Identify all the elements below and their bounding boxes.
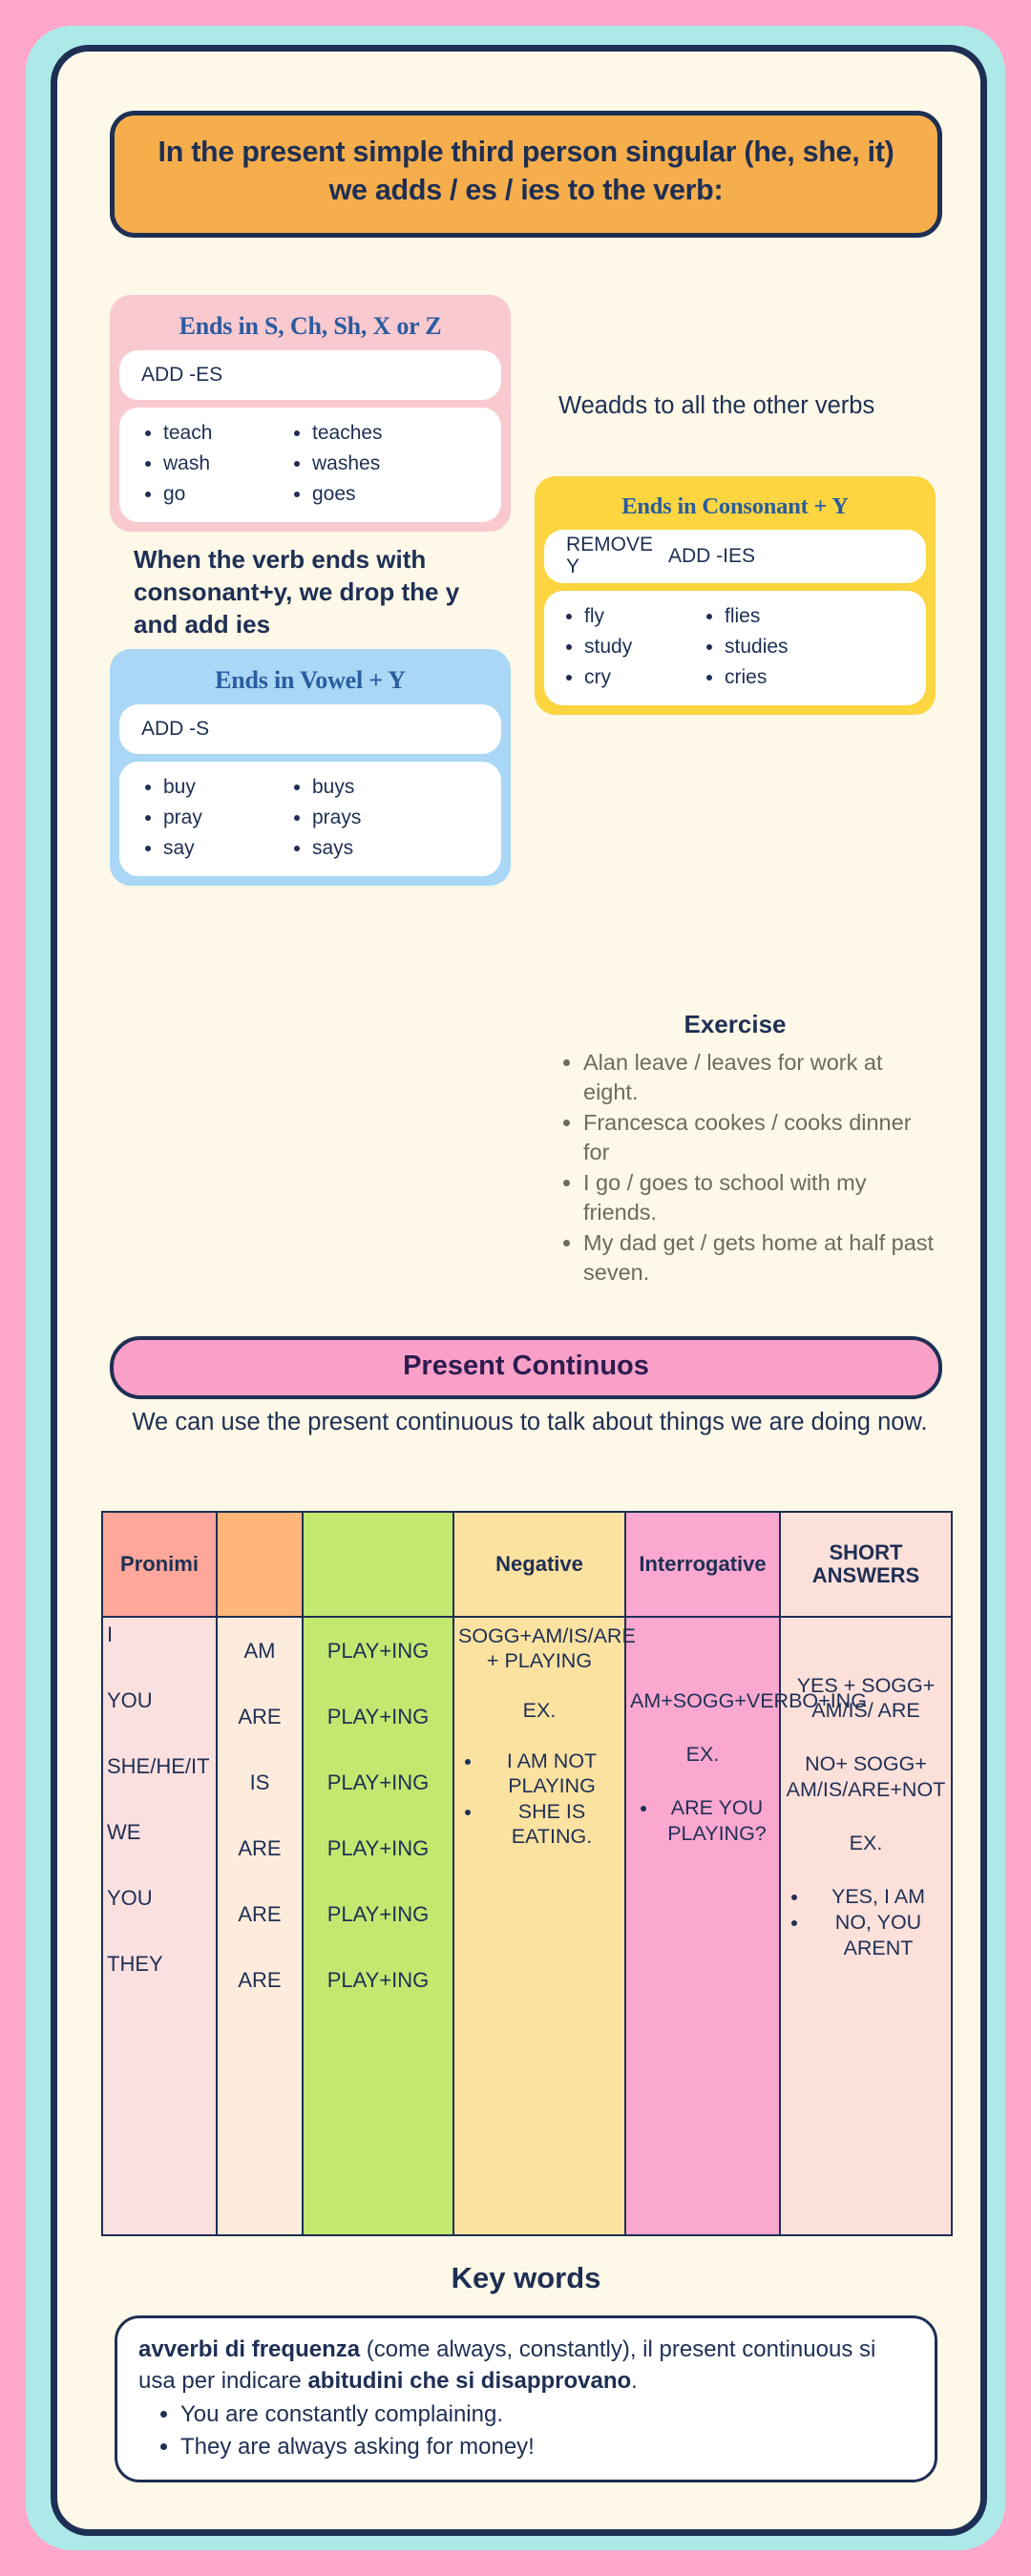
key-words-paragraph: avverbi di frequenza (come always, const… (138, 2334, 914, 2397)
rule-box-s-words: teach wash go teaches washes goes (119, 408, 501, 522)
pronoun: THEY (107, 1953, 163, 1976)
table-row: IS (218, 1749, 302, 1815)
rule-box-consonant-y-words: fly study cry flies studies cries (544, 591, 926, 705)
be-form-list: AM ARE IS ARE ARE ARE (218, 1618, 302, 2013)
spacer (458, 1724, 621, 1749)
short-answer-examples: YES, I AM NO, YOU ARENT (810, 1884, 947, 1960)
interrogative-examples: ARE YOU PLAYING? (659, 1795, 775, 1845)
table-row: SHE/HE/IT (103, 1749, 216, 1815)
rule-box-vowel-y-rulebar: ADD -S (119, 704, 501, 754)
interrogative-block: AM+SOGG+VERBO+ING EX. ARE YOU PLAYING? (626, 1618, 779, 1846)
be-form: ARE (238, 1707, 281, 1728)
exercise-title: Exercise (535, 1010, 936, 1039)
rule-box-vowel-y-words: buy pray say buys prays says (119, 762, 501, 876)
rule-box-consonant-y-rulebar: REMOVE Y ADD -IES (544, 530, 926, 583)
rule-box-consonant-y-rule-right: ADD -IES (668, 545, 755, 568)
rule-box-consonant-y-rule-left: REMOVE Y (544, 534, 647, 577)
table-row: I (103, 1618, 216, 1684)
table-row: ARE (218, 1815, 302, 1881)
short-answers-block: YES + SOGG+ AM/IS/ ARE NO+ SOGG+ AM/IS/A… (781, 1618, 951, 1960)
negative-block: SOGG+AM/IS/ARE + PLAYING EX. I AM NOT PL… (454, 1618, 624, 1850)
present-continuous-subtitle: We can use the present continuous to tal… (129, 1407, 931, 1439)
list-item: cry (584, 662, 684, 693)
table-cell-be-forms: AM ARE IS ARE ARE ARE (217, 1617, 303, 2235)
pronoun: SHE/HE/IT (107, 1755, 210, 1778)
list-item: buy (163, 772, 268, 803)
interrogative-formula: AM+SOGG+VERBO+ING (630, 1688, 775, 1713)
table-row: PLAY+ING (304, 1815, 452, 1881)
rule-box-ends-in-s: Ends in S, Ch, Sh, X or Z ADD -ES teach … (110, 295, 511, 532)
list-item: YES, I AM (810, 1884, 947, 1909)
list-item: buys (312, 772, 417, 803)
rule-box-vowel-y: Ends in Vowel + Y ADD -S buy pray say bu… (110, 649, 511, 886)
rule-box-s-conjugated-list: teaches washes goes (312, 418, 417, 510)
pronoun: YOU (107, 1689, 153, 1712)
table-header-be (217, 1512, 303, 1617)
short-answer-formula-no: NO+ SOGG+ AM/IS/ARE+NOT (785, 1751, 947, 1801)
table-header-negative: Negative (453, 1512, 625, 1617)
key-words-bold-2: abitudini che si disapprovano (307, 2368, 631, 2394)
be-form: ARE (238, 1970, 281, 1991)
list-item: prays (312, 803, 417, 833)
rule-box-s-base-list: teach wash go (163, 418, 268, 510)
list-item: study (584, 632, 684, 662)
list-item: ARE YOU PLAYING? (659, 1795, 775, 1845)
interrogative-ex-label: EX. (630, 1742, 775, 1767)
be-form: AM (244, 1641, 276, 1662)
list-item: say (163, 833, 268, 864)
rule-box-s-header: Ends in S, Ch, Sh, X or Z (119, 304, 501, 350)
table-cell-negative: SOGG+AM/IS/ARE + PLAYING EX. I AM NOT PL… (453, 1617, 625, 2235)
table-row: YOU (103, 1881, 216, 1947)
table-row: ARE (218, 1684, 302, 1749)
list-item: cries (725, 662, 825, 693)
verb-form: PLAY+ING (327, 1904, 430, 1925)
list-item: studies (725, 632, 825, 662)
spacer (785, 1802, 947, 1831)
table-row: ARE (218, 1881, 302, 1947)
pronoun: I (107, 1623, 113, 1646)
rule-box-vowel-y-header: Ends in Vowel + Y (119, 659, 501, 704)
infographic-card: In the present simple third person singu… (51, 45, 987, 2536)
verb-form: PLAY+ING (327, 1641, 430, 1662)
list-item: NO, YOU ARENT (810, 1910, 947, 1959)
be-form: ARE (238, 1904, 281, 1925)
key-words-examples: You are constantly complaining. They are… (180, 2398, 914, 2462)
exercise-list: Alan leave / leaves for work at eight. F… (557, 1048, 938, 1288)
rule-box-s-rulebar: ADD -ES (119, 350, 501, 400)
list-item: go (163, 479, 268, 510)
list-item: teach (163, 418, 268, 449)
table-row: PLAY+ING (304, 1684, 452, 1749)
table-row: PLAY+ING (304, 1881, 452, 1947)
rule-box-s-rule: ADD -ES (119, 364, 222, 387)
note-consonant-y: When the verb ends with consonant+y, we … (134, 543, 477, 640)
rule-box-consonant-y-header: Ends in Consonant + Y (544, 486, 926, 530)
list-item: fly (584, 601, 684, 632)
table-row: PLAY+ING (304, 1947, 452, 2013)
spacer (785, 1855, 947, 1884)
list-item: wash (163, 449, 268, 479)
rule-box-vowel-y-base-list: buy pray say (163, 772, 268, 864)
list-item: Alan leave / leaves for work at eight. (583, 1048, 938, 1106)
negative-examples: I AM NOT PLAYING SHE IS EATING. (483, 1749, 621, 1850)
page-title: In the present simple third person singu… (139, 134, 913, 210)
table-row: PLAY+ING (304, 1749, 452, 1815)
table-row: YOU (103, 1684, 216, 1749)
negative-formula: SOGG+AM/IS/ARE + PLAYING (458, 1623, 621, 1673)
table-header-short-answers: SHORT ANSWERS (780, 1512, 952, 1617)
list-item: They are always asking for money! (180, 2431, 914, 2463)
table-row: PLAY+ING (304, 1618, 452, 1684)
list-item: I go / goes to school with my friends. (583, 1168, 938, 1226)
note-weadds: Weadds to all the other verbs (558, 390, 893, 423)
table-row: THEY (103, 1947, 216, 2013)
be-form: IS (250, 1772, 270, 1793)
table-header-verb (303, 1512, 453, 1617)
list-item: says (312, 833, 417, 864)
list-item: pray (163, 803, 268, 833)
negative-ex-label: EX. (458, 1698, 621, 1723)
spacer (630, 1713, 775, 1742)
present-continuous-table: Pronimi Negative Interrogative SHORT ANS… (101, 1511, 953, 2236)
key-words-bold-1: avverbi di frequenza (138, 2336, 360, 2362)
pronoun: YOU (107, 1887, 153, 1910)
table-cell-verb-forms: PLAY+ING PLAY+ING PLAY+ING PLAY+ING PLAY… (303, 1617, 453, 2235)
verb-form: PLAY+ING (327, 1772, 430, 1793)
rule-box-vowel-y-rule: ADD -S (119, 718, 209, 741)
table-cell-pronouns: I YOU SHE/HE/IT WE YOU THEY (102, 1617, 217, 2235)
list-item: You are constantly complaining. (180, 2398, 914, 2431)
spacer (785, 1723, 947, 1751)
verb-form: PLAY+ING (327, 1707, 430, 1728)
title-banner: In the present simple third person singu… (110, 111, 942, 238)
key-words-end: . (631, 2368, 638, 2394)
be-form: ARE (238, 1838, 281, 1859)
table-header-pronouns: Pronimi (102, 1512, 217, 1617)
spacer (458, 1673, 621, 1698)
list-item: teaches (312, 418, 417, 449)
verb-form: PLAY+ING (327, 1838, 430, 1859)
key-words-title: Key words (110, 2261, 942, 2295)
table-header-interrogative: Interrogative (625, 1512, 780, 1617)
pronoun: WE (107, 1821, 140, 1844)
table-row: ARE (218, 1947, 302, 2013)
rule-box-consonant-y-conjugated-list: flies studies cries (725, 601, 825, 693)
spacer (630, 1767, 775, 1795)
list-item: goes (312, 479, 417, 510)
list-item: washes (312, 449, 417, 479)
key-words-box: avverbi di frequenza (come always, const… (115, 2315, 937, 2482)
list-item: SHE IS EATING. (483, 1799, 621, 1849)
list-item: Francesca cookes / cooks dinner for (583, 1108, 938, 1166)
rule-box-consonant-y: Ends in Consonant + Y REMOVE Y ADD -IES … (535, 476, 936, 715)
rule-box-consonant-y-base-list: fly study cry (584, 601, 684, 693)
list-item: flies (725, 601, 825, 632)
rule-box-vowel-y-conjugated-list: buys prays says (312, 772, 417, 864)
list-item: I AM NOT PLAYING (483, 1749, 621, 1798)
short-answer-ex-label: EX. (785, 1831, 947, 1855)
table-cell-interrogative: AM+SOGG+VERBO+ING EX. ARE YOU PLAYING? (625, 1617, 780, 2235)
table-row: I YOU SHE/HE/IT WE YOU THEY AM ARE IS AR… (102, 1617, 952, 2235)
table-header-row: Pronimi Negative Interrogative SHORT ANS… (102, 1512, 952, 1617)
table-row: WE (103, 1815, 216, 1881)
table-row: AM (218, 1618, 302, 1684)
verb-form-list: PLAY+ING PLAY+ING PLAY+ING PLAY+ING PLAY… (304, 1618, 452, 2013)
list-item: My dad get / gets home at half past seve… (583, 1228, 938, 1287)
pronoun-list: I YOU SHE/HE/IT WE YOU THEY (103, 1618, 216, 2013)
verb-form: PLAY+ING (327, 1970, 430, 1991)
present-continuous-title: Present Continuos (114, 1351, 938, 1382)
present-continuous-banner: Present Continuos (110, 1336, 942, 1399)
